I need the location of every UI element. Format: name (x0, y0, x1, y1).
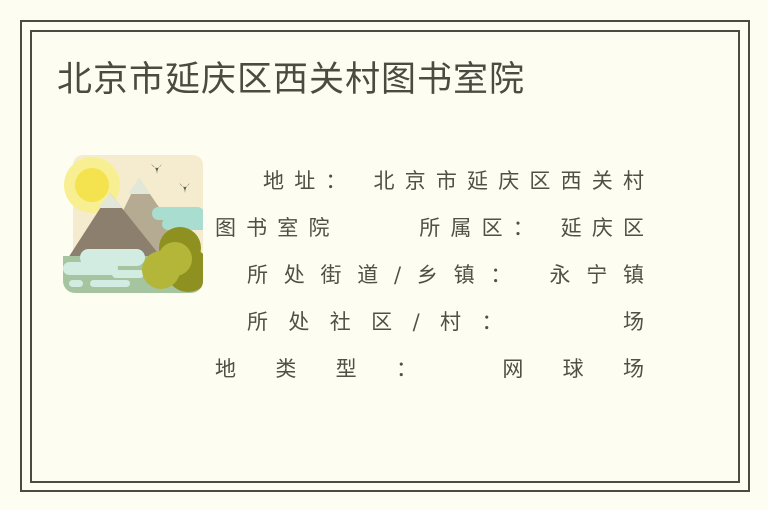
detail-line-land-type: 地类型： 网球场 (215, 346, 645, 393)
landscape-illustration (55, 150, 210, 298)
mountain-landscape-icon (55, 150, 210, 298)
detail-line-2-addr-tail: 图书室院 (215, 216, 340, 240)
detail-line-address-cont-district: 图书室院 所属区： 延庆区 (215, 205, 645, 252)
detail-text-block: 地址： 北京市延庆区西关村 图书室院 所属区： 延庆区 所处街道/乡镇： 永宁镇… (215, 158, 645, 393)
card-content: 北京市延庆区西关村图书室院 (30, 30, 740, 483)
page-title: 北京市延庆区西关村图书室院 (57, 57, 525, 103)
detail-line-3-text: 所处街道/乡镇： 永宁镇 (247, 263, 645, 287)
info-card-page: 北京市延庆区西关村图书室院 (0, 0, 768, 510)
detail-line-1-text: 地址： 北京市延庆区西关村 (263, 169, 645, 193)
detail-line-address: 地址： 北京市延庆区西关村 (215, 158, 645, 205)
detail-line-street-town: 所处街道/乡镇： 永宁镇 (215, 252, 645, 299)
detail-line-2-district: 所属区： 延庆区 (419, 216, 645, 240)
detail-line-4-label: 所处社区/村： (247, 310, 523, 334)
detail-line-community-village: 所处社区/村： 场 (215, 299, 645, 346)
detail-line-4-value: 场 (623, 310, 645, 334)
detail-line-5-text: 地类型： 网球场 (215, 357, 645, 381)
